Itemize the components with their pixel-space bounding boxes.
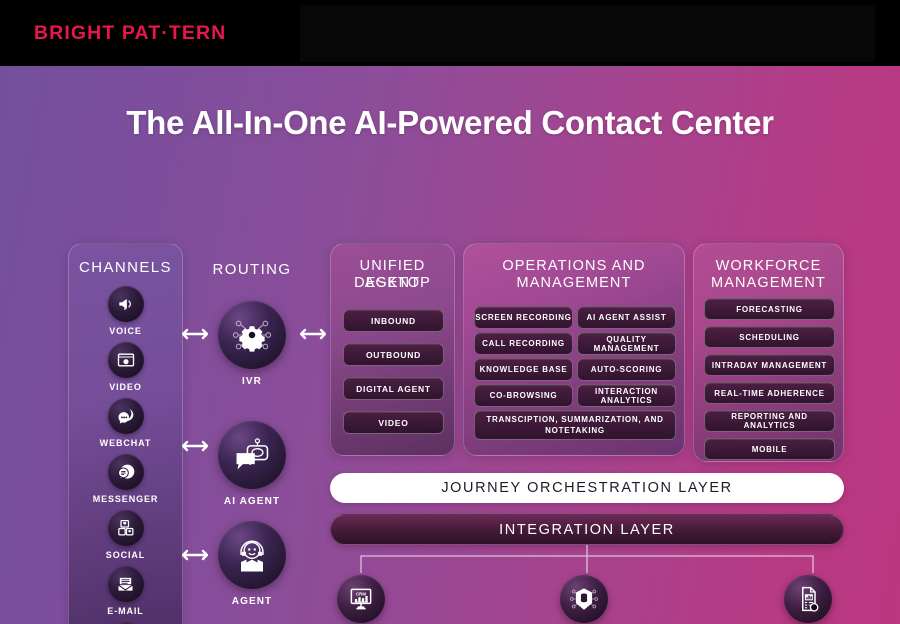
channels-panel: CHANNELS VOICE VIDEO	[68, 243, 183, 624]
channel-label: VIDEO	[69, 382, 182, 392]
wfm-item-reporting-and-analytics[interactable]: REPORTING AND ANALYTICS	[704, 410, 835, 432]
uad-item-video[interactable]: VIDEO	[343, 411, 444, 434]
wfm-item-mobile[interactable]: MOBILE	[704, 438, 835, 460]
messenger-bubbles-icon	[108, 454, 144, 490]
uad-item-digital-agent[interactable]: DIGITAL AGENT	[343, 377, 444, 400]
robot-chat-icon	[218, 421, 286, 489]
uad-item-outbound[interactable]: OUTBOUND	[343, 343, 444, 366]
ops-item-ai-agent-assist[interactable]: AI AGENT ASSIST	[577, 306, 676, 329]
ops-item-screen-recording[interactable]: SCREEN RECORDING	[474, 306, 573, 329]
channel-item-voice[interactable]: VOICE	[69, 286, 182, 336]
operations-management-panel: OPERATIONS AND MANAGEMENT SCREEN RECORDI…	[463, 243, 685, 456]
routing-label: AI AGENT	[193, 496, 311, 507]
wfm-heading-line2: MANAGEMENT	[694, 275, 843, 292]
data-report-icon	[784, 575, 832, 623]
channel-item-messenger[interactable]: MESSENGER	[69, 454, 182, 504]
megaphone-icon	[108, 286, 144, 322]
integration-item-ucaas[interactable]: UCaaS	[524, 575, 644, 624]
ucaas-node-icon	[560, 575, 608, 623]
svg-text:CRM: CRM	[356, 592, 366, 597]
page-title: The All-In-One AI-Powered Contact Center	[0, 104, 900, 142]
channel-item-video[interactable]: VIDEO	[69, 342, 182, 392]
channel-label: E-MAIL	[69, 606, 182, 616]
unified-agent-desktop-panel: UNIFIED AGENT DESKTOP INBOUND OUTBOUND D…	[330, 243, 455, 456]
wfm-item-forecasting[interactable]: FORECASTING	[704, 298, 835, 320]
routing-item-ivr[interactable]: IVR	[193, 301, 311, 387]
chat-bubbles-icon	[108, 398, 144, 434]
agent-person-icon	[218, 521, 286, 589]
uad-heading-line2: DESKTOP	[331, 275, 454, 292]
arrow-channels-to-ai-agent	[182, 440, 208, 452]
uad-item-inbound[interactable]: INBOUND	[343, 309, 444, 332]
brand-logo: BRIGHT PAT·TERN	[34, 22, 226, 45]
arrow-ivr-to-desktop	[300, 328, 326, 340]
gear-network-icon	[218, 301, 286, 369]
routing-item-agent[interactable]: AGENT	[193, 521, 311, 607]
ops-item-knowledge-base[interactable]: KNOWLEDGE BASE	[474, 358, 573, 381]
header-inset-panel	[300, 5, 875, 62]
video-window-icon	[108, 342, 144, 378]
ops-item-co-browsing[interactable]: CO-BROWSING	[474, 384, 573, 407]
diagram-canvas: The All-In-One AI-Powered Contact Center…	[0, 66, 900, 624]
routing-label: IVR	[193, 376, 311, 387]
social-hearts-icon	[108, 510, 144, 546]
channels-heading: CHANNELS	[69, 259, 182, 276]
integration-item-crm[interactable]: CRM CRM	[301, 575, 421, 624]
wfm-item-real-time-adherence[interactable]: REAL-TIME ADHERENCE	[704, 382, 835, 404]
channel-item-social[interactable]: SOCIAL	[69, 510, 182, 560]
integration-item-custom-data[interactable]: CUSTOM DATA	[748, 575, 868, 624]
arrow-channels-to-ivr	[182, 328, 208, 340]
routing-item-ai-agent[interactable]: AI AGENT	[193, 421, 311, 507]
crm-monitor-icon: CRM	[337, 575, 385, 623]
wfm-item-scheduling[interactable]: SCHEDULING	[704, 326, 835, 348]
channel-label: MESSENGER	[69, 494, 182, 504]
integration-layer-bar[interactable]: INTEGRATION LAYER	[330, 514, 844, 545]
journey-orchestration-layer-bar[interactable]: JOURNEY ORCHESTRATION LAYER	[330, 473, 844, 503]
integration-connector-tree	[330, 545, 844, 577]
channel-label: VOICE	[69, 326, 182, 336]
arrow-channels-to-agent	[182, 549, 208, 561]
channel-label: SOCIAL	[69, 550, 182, 560]
ops-heading-line1: OPERATIONS AND	[464, 258, 684, 275]
workforce-management-panel: WORKFORCE MANAGEMENT FORECASTING SCHEDUL…	[693, 243, 844, 462]
ops-item-auto-scoring[interactable]: AUTO-SCORING	[577, 358, 676, 381]
ops-item-interaction-analytics[interactable]: INTERACTION ANALYTICS	[577, 384, 676, 407]
envelope-icon	[108, 566, 144, 602]
ops-item-call-recording[interactable]: CALL RECORDING	[474, 332, 573, 355]
channel-item-email[interactable]: E-MAIL	[69, 566, 182, 616]
ops-item-quality-management[interactable]: QUALITY MANAGEMENT	[577, 332, 676, 355]
wfm-heading-line1: WORKFORCE	[694, 258, 843, 275]
channel-item-webchat[interactable]: WEBCHAT	[69, 398, 182, 448]
channel-label: WEBCHAT	[69, 438, 182, 448]
routing-label: AGENT	[193, 596, 311, 607]
routing-heading: ROUTING	[193, 261, 311, 278]
ops-heading-line2: MANAGEMENT	[464, 275, 684, 292]
wfm-item-intraday-management[interactable]: INTRADAY MANAGEMENT	[704, 354, 835, 376]
top-header-bar: BRIGHT PAT·TERN	[0, 0, 900, 66]
ops-item-transcription-summarization[interactable]: TRANSCIPTION, SUMMARIZATION, AND NOTETAK…	[474, 410, 676, 440]
